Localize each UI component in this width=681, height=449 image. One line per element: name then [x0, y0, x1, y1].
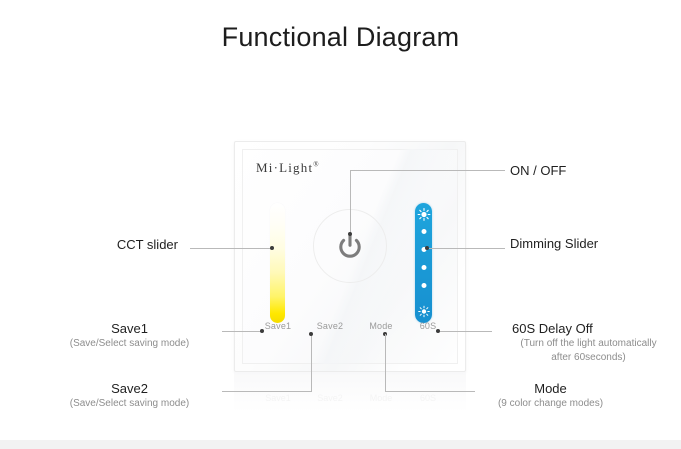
leader-dot-cct-slider — [270, 246, 274, 250]
reflection-save2: Save2 — [310, 393, 350, 403]
leader-line-on-off-vertical — [350, 170, 351, 234]
leader-line-save1 — [222, 331, 262, 332]
footer-band — [0, 440, 681, 449]
callout-mode: Mode (9 color change modes) — [458, 380, 643, 411]
callout-cct-slider-title: CCT slider — [58, 236, 178, 253]
touch-button-save1[interactable]: Save1 — [258, 321, 298, 331]
leader-line-dimming-slider — [429, 248, 505, 249]
callout-delay-off-sub-line1: (Turn off the light automatically — [496, 337, 681, 351]
callout-dimming-slider-title: Dimming Slider — [510, 235, 598, 252]
diagram-canvas: Functional Diagram Mi·Light® — [0, 0, 681, 449]
leader-dot-save1 — [260, 329, 264, 333]
brightness-low-icon — [417, 305, 430, 318]
reflection-save1: Save1 — [258, 393, 298, 403]
reflection-mode: Mode — [361, 393, 401, 403]
touch-button-60s[interactable]: 60S — [408, 321, 448, 331]
callout-save2-title: Save2 — [42, 380, 217, 397]
callout-save1-sub: (Save/Select saving mode) — [42, 337, 217, 351]
leader-dot-on-off — [348, 232, 352, 236]
callout-save2-sub: (Save/Select saving mode) — [42, 397, 217, 411]
callout-delay-off-title: 60S Delay Off — [496, 320, 681, 337]
dimming-dot — [421, 229, 426, 234]
brand-logo: Mi·Light® — [256, 160, 319, 176]
leader-line-delay-off — [440, 331, 492, 332]
dimming-dot — [421, 283, 426, 288]
callout-dimming-slider: Dimming Slider — [510, 235, 598, 252]
brand-text: Mi·Light — [256, 160, 313, 175]
leader-line-mode-vertical — [385, 334, 386, 391]
callout-save2: Save2 (Save/Select saving mode) — [42, 380, 217, 411]
callout-on-off: ON / OFF — [510, 162, 566, 179]
reflection-fade — [234, 372, 466, 422]
dimming-slider[interactable] — [415, 203, 432, 323]
dimming-dot — [421, 265, 426, 270]
callout-on-off-title: ON / OFF — [510, 162, 566, 179]
callout-delay-off: 60S Delay Off (Turn off the light automa… — [496, 320, 681, 365]
callout-save1-title: Save1 — [42, 320, 217, 337]
reflection-60s: 60S — [408, 393, 448, 403]
leader-dot-save2 — [309, 332, 313, 336]
callout-mode-title: Mode — [458, 380, 643, 397]
panel-reflection: Save1 Save2 Mode 60S — [234, 373, 466, 421]
cct-slider[interactable] — [270, 203, 285, 323]
leader-line-save2-horizontal — [222, 391, 312, 392]
touch-button-row: Save1 Save2 Mode 60S — [234, 321, 466, 351]
callout-save1: Save1 (Save/Select saving mode) — [42, 320, 217, 351]
touch-button-mode[interactable]: Mode — [361, 321, 401, 331]
callout-cct-slider: CCT slider — [58, 236, 178, 253]
callout-delay-off-sub-line2: after 60seconds) — [496, 351, 681, 365]
leader-line-on-off-horizontal — [350, 170, 505, 171]
leader-line-cct-slider — [190, 248, 272, 249]
touch-button-save2[interactable]: Save2 — [310, 321, 350, 331]
brightness-high-icon — [417, 208, 430, 221]
page-title: Functional Diagram — [0, 22, 681, 53]
registered-trademark-icon: ® — [313, 161, 318, 169]
callout-mode-sub: (9 color change modes) — [458, 397, 643, 411]
leader-line-save2-vertical — [311, 334, 312, 391]
